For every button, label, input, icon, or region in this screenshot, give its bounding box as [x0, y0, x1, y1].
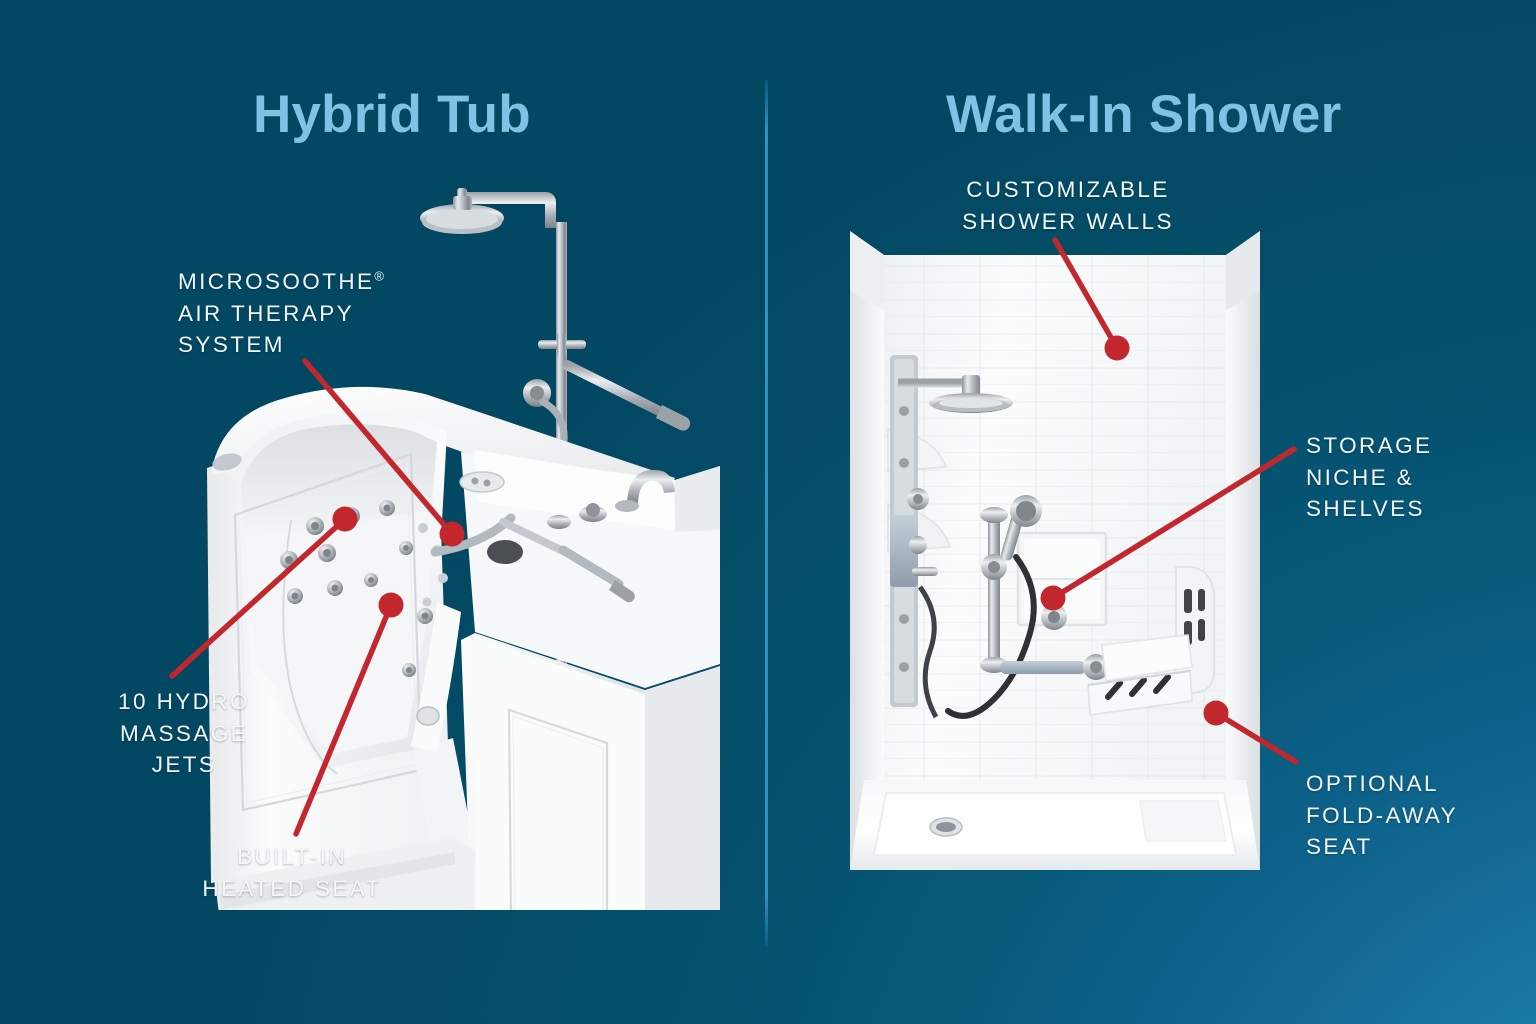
shower-valve-icon [1041, 604, 1067, 630]
callout-customizable-shower-walls: CUSTOMIZABLE SHOWER WALLS [940, 174, 1196, 237]
infographic-canvas: Hybrid Tub Walk-In Shower MICROSOOTHE®AI… [0, 0, 1536, 1024]
callout-storage-niche-shelves: STORAGE NICHE & SHELVES [1306, 430, 1432, 525]
walk-in-shower-illustration [840, 215, 1270, 875]
panel-title-walk-in-shower: Walk-In Shower [946, 88, 1341, 141]
callout-optional-fold-away-seat: OPTIONAL FOLD-AWAY SEAT [1306, 768, 1458, 863]
tub-body [207, 387, 720, 910]
callout-microsoothe-air-therapy: MICROSOOTHE®AIR THERAPYSYSTEM [178, 266, 384, 361]
panel-title-hybrid-tub: Hybrid Tub [253, 88, 531, 141]
hybrid-tub-illustration [175, 150, 720, 910]
registered-trademark-symbol: ® [374, 269, 384, 284]
callout-built-in-heated-seat: BUILT-IN HEATED SEAT [168, 841, 416, 904]
shower-pan [850, 780, 1260, 870]
callout-hydro-massage-jets: 10 HYDRO MASSAGE JETS [70, 686, 298, 781]
callout-microsoothe-text: MICROSOOTHE®AIR THERAPYSYSTEM [178, 269, 384, 357]
panel-divider [765, 80, 768, 946]
